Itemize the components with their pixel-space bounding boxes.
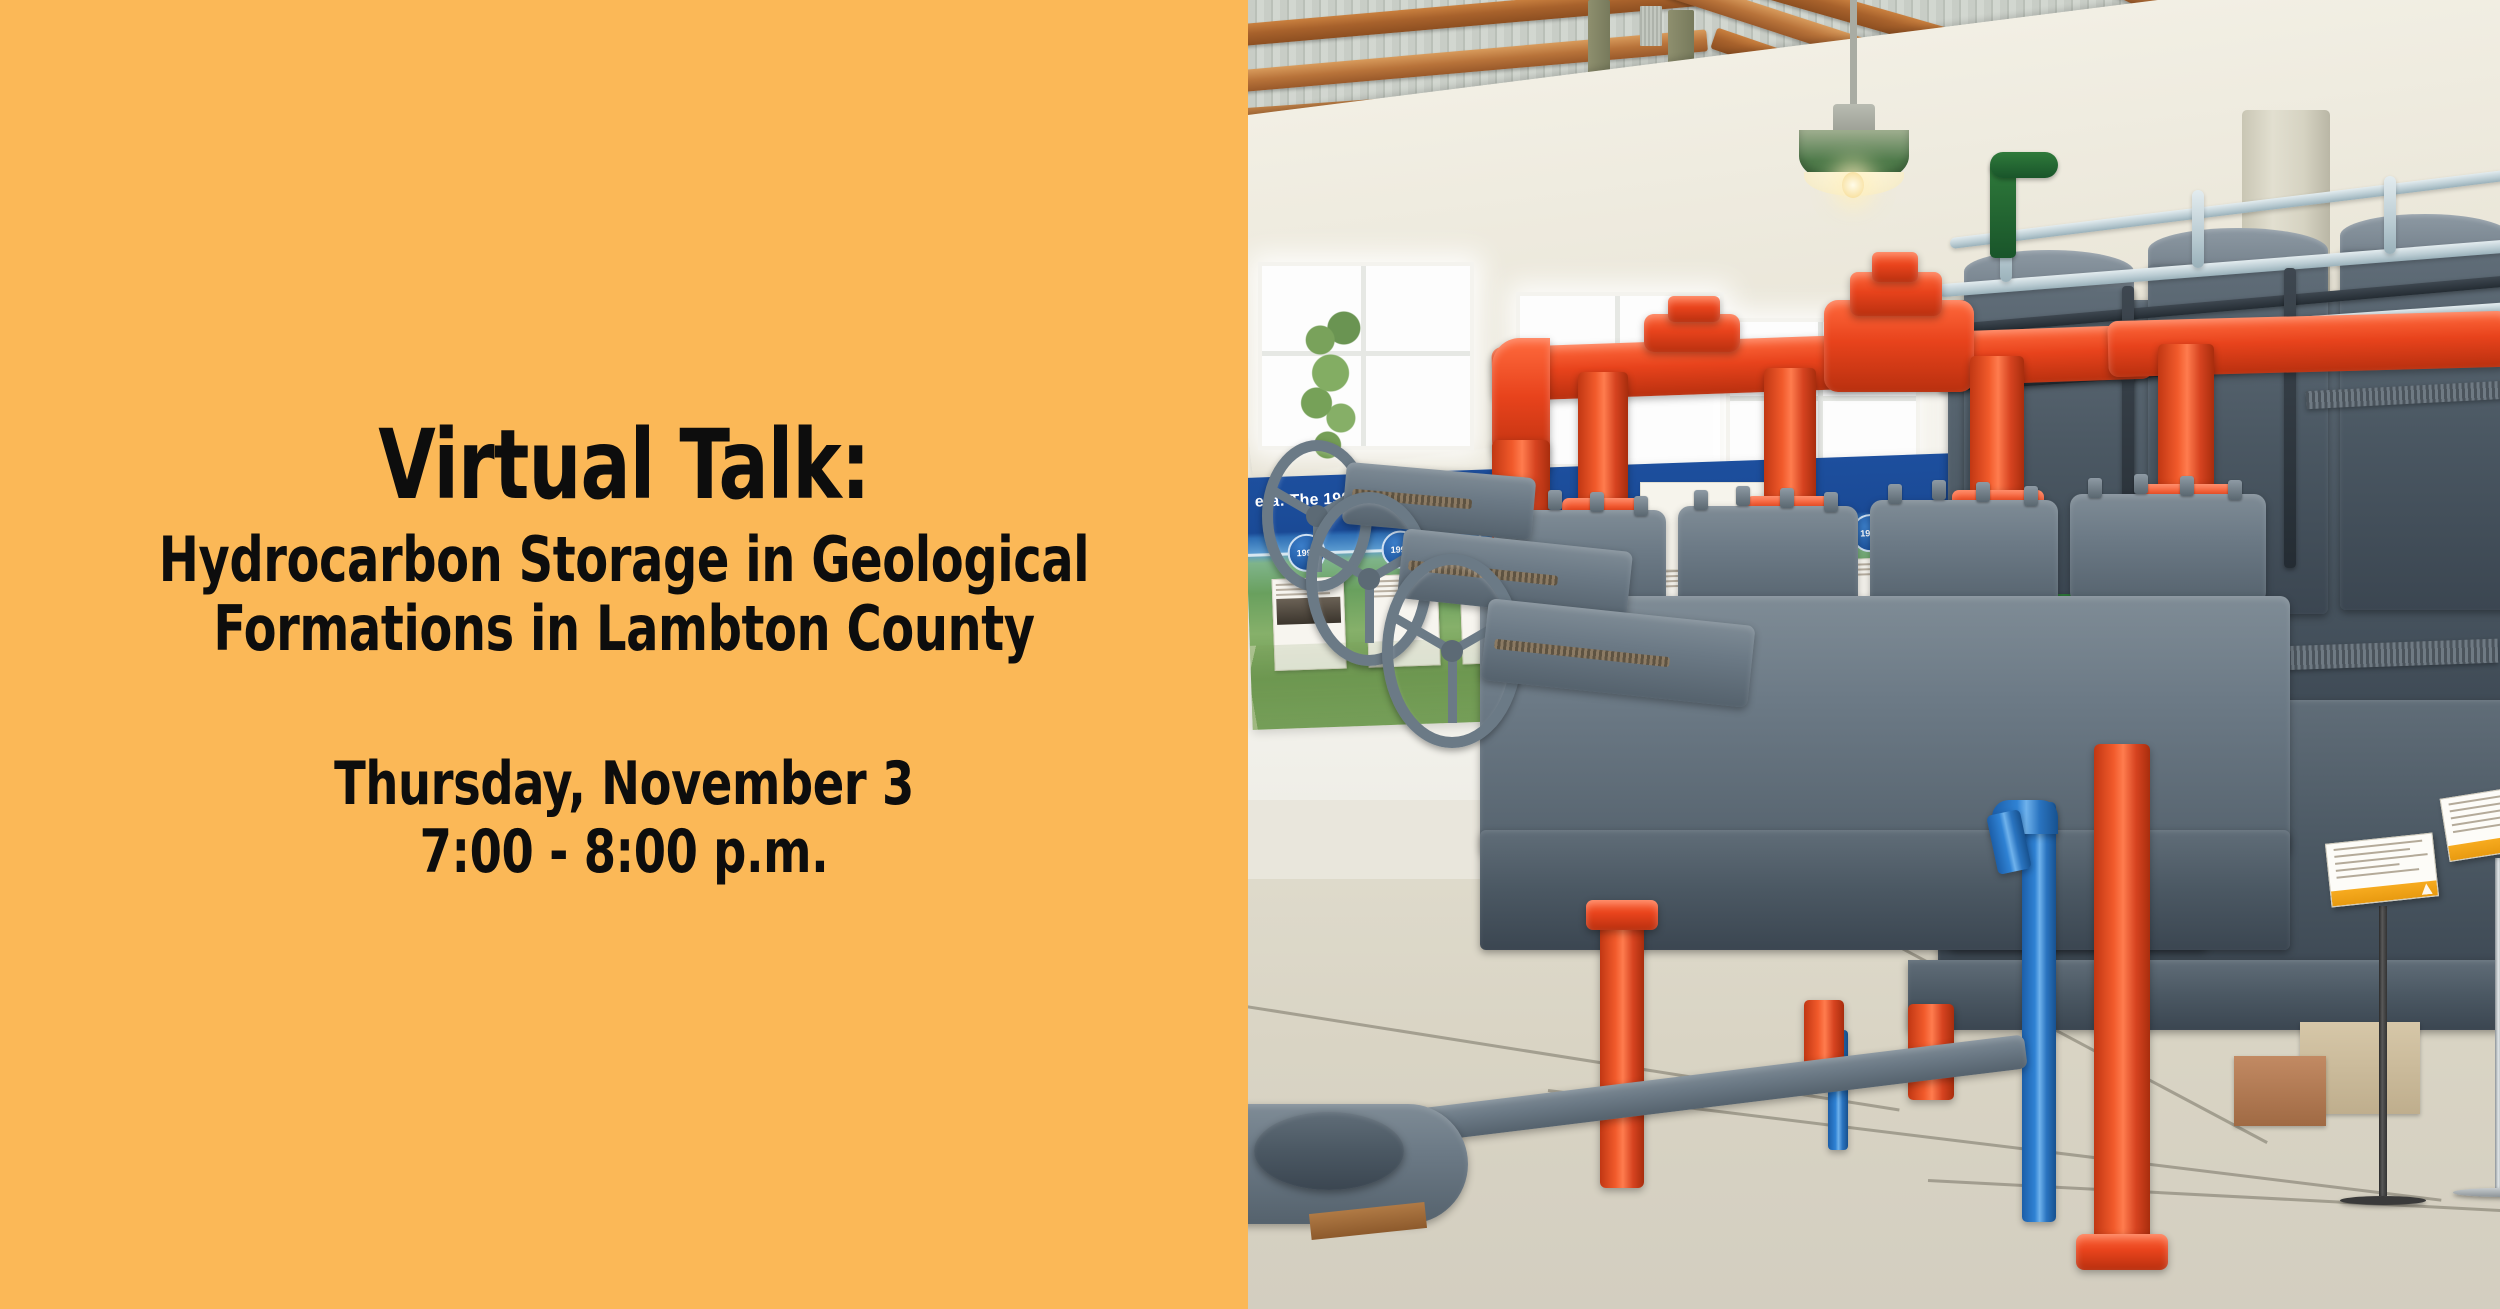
placard-base <box>2340 1196 2426 1205</box>
window-left <box>1258 262 1474 450</box>
museum-interior-photo: era: The 1990s 1992 1993 1995 1996 1997 <box>1248 0 2500 1309</box>
red-valve-stem-cap <box>1872 252 1918 282</box>
red-pipe-flange <box>1586 900 1658 930</box>
interpretive-placard-left <box>2328 838 2438 1205</box>
pipe-flange-bore <box>1254 1112 1404 1190</box>
lamp-rod <box>1850 0 1857 108</box>
red-pipe-vertical <box>1600 918 1644 1188</box>
red-pipe-foreground <box>2094 744 2150 1254</box>
event-text-block: Virtual Talk: Hydrocarbon Storage in Geo… <box>87 417 1160 887</box>
placard-band <box>2448 830 2500 861</box>
placard-band <box>2331 880 2438 906</box>
poster-text-panel: Virtual Talk: Hydrocarbon Storage in Geo… <box>0 0 1248 1309</box>
event-time: 7:00 - 8:00 p.m. <box>87 818 1160 886</box>
subtitle-line-2: Formations in Lambton County <box>87 594 1160 663</box>
support-brick <box>2234 1056 2326 1126</box>
handrail-post <box>2284 268 2296 568</box>
lamp-bulb <box>1842 172 1864 198</box>
cylinder-head <box>1870 500 2058 608</box>
placard-stem <box>2495 858 2500 1188</box>
cylinder-head <box>2070 494 2266 604</box>
placard-base <box>2453 1188 2500 1197</box>
tree-through-window <box>1298 310 1372 460</box>
placard-card <box>2440 782 2500 862</box>
truss-plate <box>1640 6 1662 46</box>
green-pipe-elbow <box>1990 152 2058 178</box>
placard-stem <box>2379 906 2387 1196</box>
pale-blue-riser <box>2384 176 2396 254</box>
event-poster: Virtual Talk: Hydrocarbon Storage in Geo… <box>0 0 2500 1309</box>
event-date: Thursday, November 3 <box>87 750 1160 818</box>
interpretive-placard-right <box>2444 790 2500 1197</box>
subtitle-line-1: Hydrocarbon Storage in Geological <box>87 525 1160 594</box>
red-valve-bonnet-small <box>1668 296 1720 322</box>
pale-blue-riser <box>2192 190 2204 268</box>
page-title: Virtual Talk: <box>87 417 1160 515</box>
red-pipe-base-flange <box>2076 1234 2168 1270</box>
window-mullion <box>1730 396 1916 401</box>
text-spacer <box>87 664 1160 750</box>
placard-card <box>2325 833 2439 908</box>
